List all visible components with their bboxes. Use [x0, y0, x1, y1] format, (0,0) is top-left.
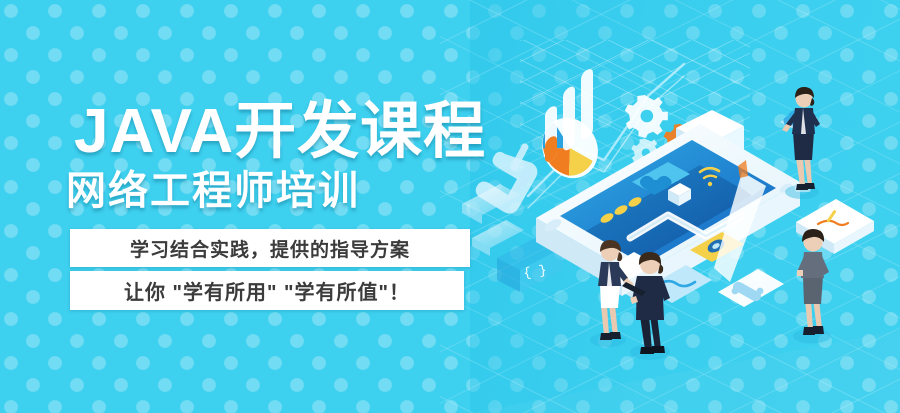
course-promo-banner: { } — [0, 0, 900, 413]
tagline-box-1: 学习结合实践，提供的指导方案 — [70, 229, 470, 267]
page-title: JAVA开发课程 — [74, 98, 486, 166]
tagline-box-2: 让你 "学有所用" "学有所值"！ — [70, 271, 464, 310]
page-subtitle: 网络工程师培训 — [66, 168, 360, 214]
tagline-2-label: 让你 "学有所用" "学有所值"！ — [124, 276, 410, 305]
headline-text-block: JAVA开发课程 网络工程师培训 学习结合实践，提供的指导方案 让你 "学有所用… — [0, 0, 500, 413]
tagline-1-label: 学习结合实践，提供的指导方案 — [130, 235, 410, 262]
